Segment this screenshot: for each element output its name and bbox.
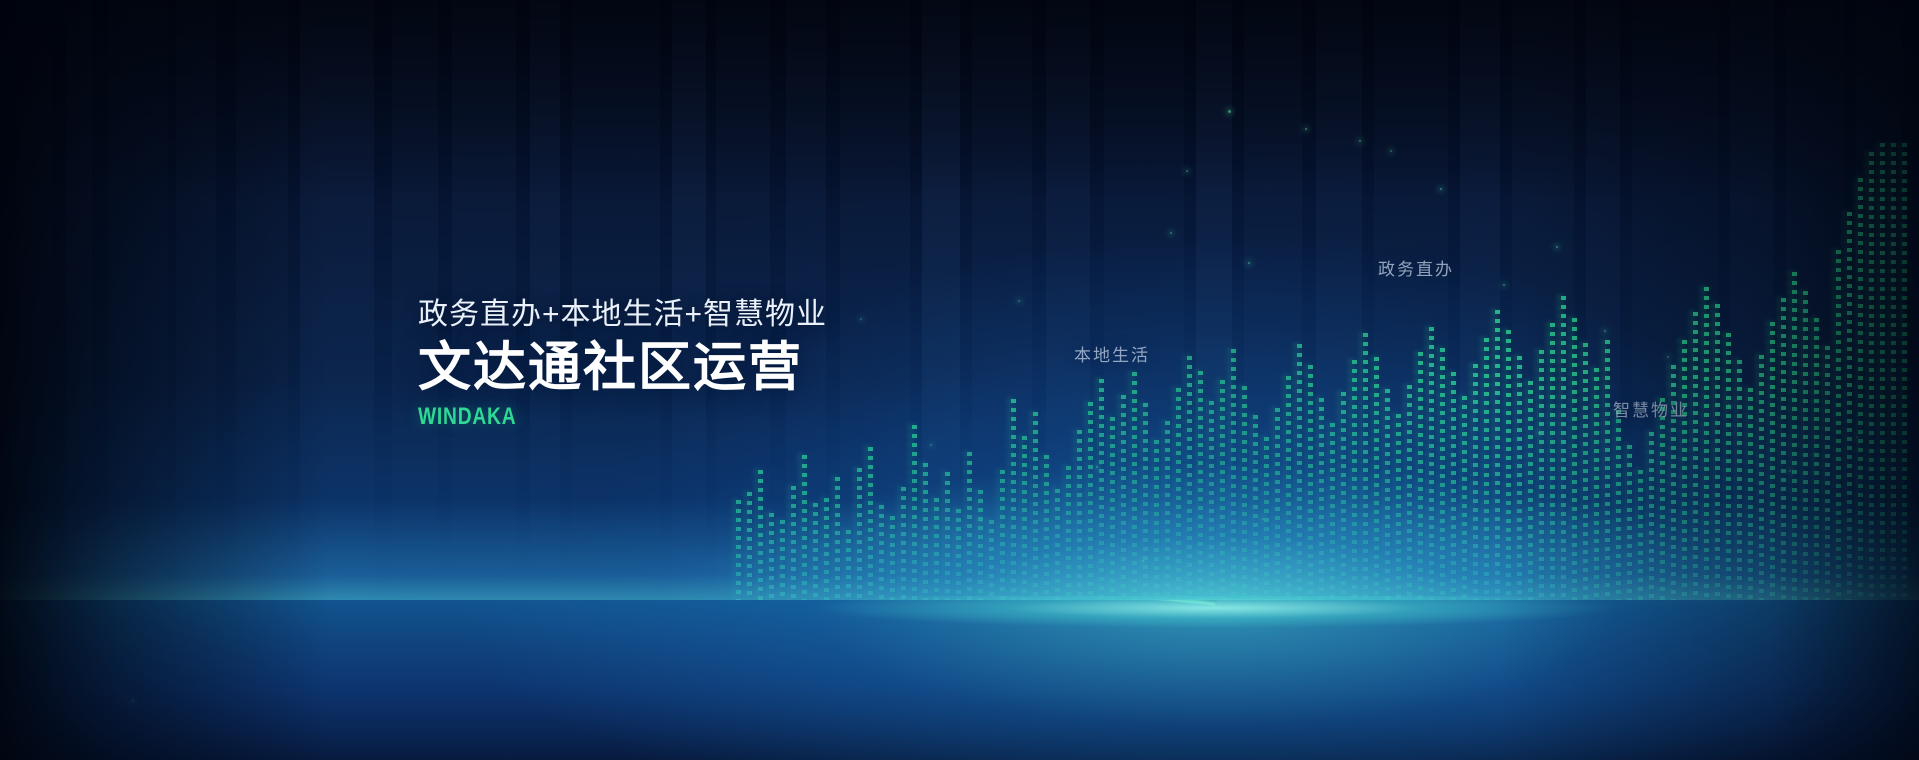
headline-block: 政务直办+本地生活+智慧物业 文达通社区运营 WINDAKA <box>418 296 827 430</box>
floating-label-2: 政务直办 <box>1378 255 1454 280</box>
banner-title: 文达通社区运营 <box>418 338 827 398</box>
hero-banner: 本地生活政务直办智慧物业 政务直办+本地生活+智慧物业 文达通社区运营 WIND… <box>0 0 1919 760</box>
floating-label-3: 智慧物业 <box>1613 396 1689 421</box>
banner-subtitle: 政务直办+本地生活+智慧物业 <box>418 296 827 334</box>
floating-label-group: 本地生活政务直办智慧物业 <box>0 0 1919 760</box>
floating-label-1: 本地生活 <box>1074 341 1150 366</box>
brand-wordmark: WINDAKA <box>418 404 745 430</box>
